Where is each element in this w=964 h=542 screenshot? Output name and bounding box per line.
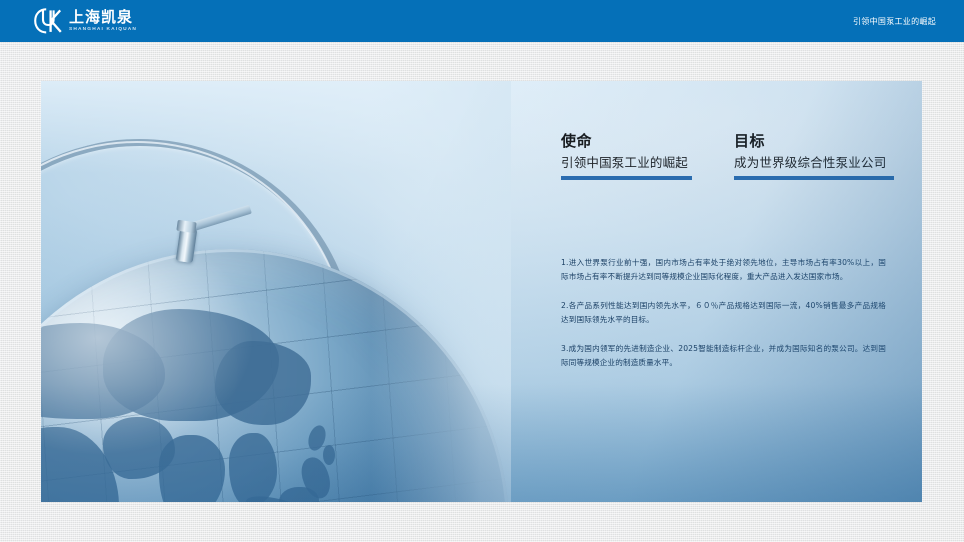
paragraph-1: 1.进入世界泵行业前十强，国内市场占有率处于绝对领先地位，主导市场占有率30%以… [561, 256, 886, 284]
goal-subtitle: 成为世界级综合性泵业公司 [734, 155, 886, 170]
goal-block: 目标 成为世界级综合性泵业公司 [734, 133, 886, 180]
brand-logo-text: 上海凯泉 SHANGHAI KAIQUAN [69, 10, 134, 32]
paragraph-3: 3.成为国内领军的先进制造企业、2025智能制造标杆企业，并成为国际知名的泵公司… [561, 342, 886, 370]
slide-canvas: 使命 引领中国泵工业的崛起 目标 成为世界级综合性泵业公司 1.进入世界泵行业前… [41, 81, 922, 502]
globe-sphere [41, 249, 509, 502]
globe-illustration [41, 81, 511, 502]
body-paragraphs: 1.进入世界泵行业前十强，国内市场占有率处于绝对领先地位，主导市场占有率30%以… [561, 248, 886, 370]
app-header: 上海凯泉 SHANGHAI KAIQUAN 引领中国泵工业的崛起 [0, 0, 964, 42]
header-slogan: 引领中国泵工业的崛起 [853, 0, 936, 42]
paragraph-2: 2.各产品系列性能达到国内领先水平，６０％产品规格达到国际一流，40%销售最多产… [561, 299, 886, 327]
content-panel: 使命 引领中国泵工业的崛起 目标 成为世界级综合性泵业公司 1.进入世界泵行业前… [520, 81, 922, 502]
mission-title: 使命 [561, 133, 713, 150]
brand-name-cn: 上海凯泉 [69, 10, 134, 25]
brand-logo[interactable]: 上海凯泉 SHANGHAI KAIQUAN [33, 6, 134, 36]
mission-block: 使命 引领中国泵工业的崛起 [561, 133, 713, 180]
headings-row: 使命 引领中国泵工业的崛起 目标 成为世界级综合性泵业公司 [561, 133, 886, 180]
goal-title: 目标 [734, 133, 886, 150]
goal-underline [734, 176, 894, 180]
mission-subtitle: 引领中国泵工业的崛起 [561, 155, 713, 170]
kaiquan-k-mark-icon [33, 7, 63, 35]
mission-underline [561, 176, 692, 180]
brand-name-en: SHANGHAI KAIQUAN [69, 27, 137, 32]
